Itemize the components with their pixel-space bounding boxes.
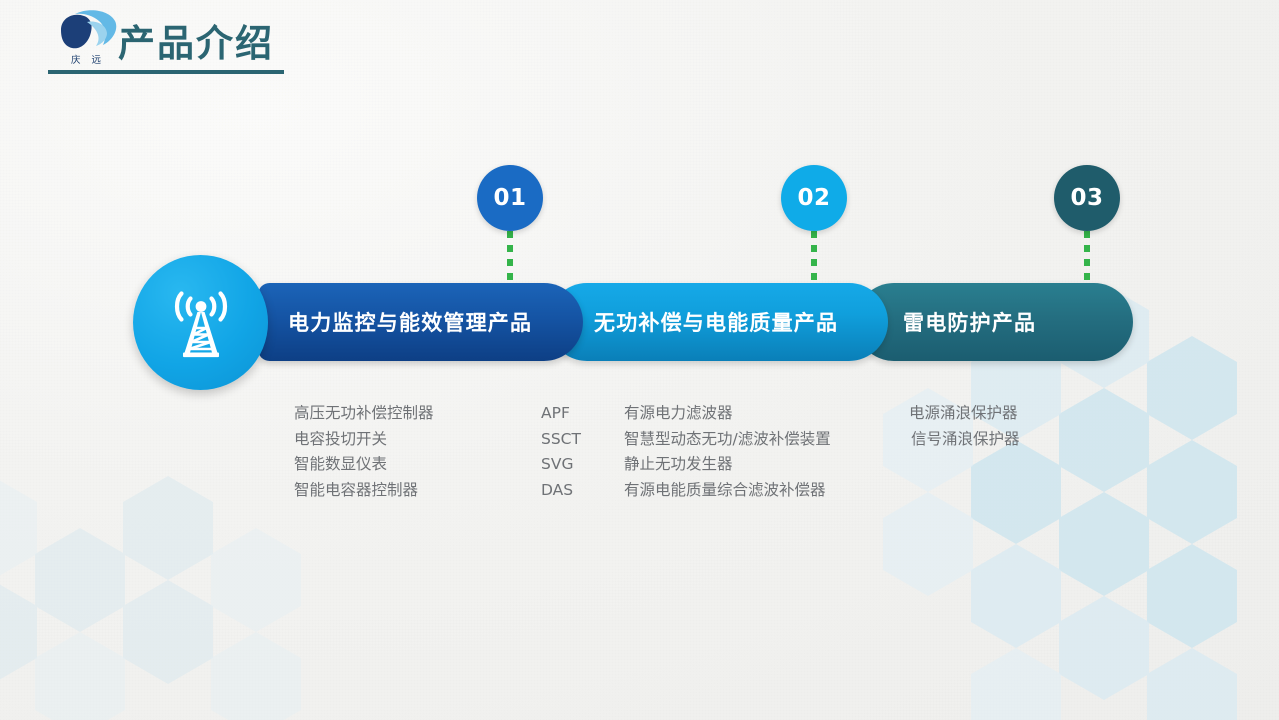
product-list-column-2-descriptions: 有源电力滤波器 智慧型动态无功/滤波补偿装置 静止无功发生器 有源电能质量综合滤… (624, 401, 831, 503)
list-item: 有源电力滤波器 (624, 401, 831, 427)
category-banner: 雷电防护产品 无功补偿与电能质量产品 电力监控与能效管理产品 (0, 0, 1279, 720)
list-item: SVG (541, 452, 581, 478)
product-list-column-1: 高压无功补偿控制器 电容投切开关 智能数显仪表 智能电容器控制器 (294, 401, 434, 503)
list-item: 电源涌浪保护器 (909, 401, 1020, 427)
product-list-column-3: 电源涌浪保护器 信号涌浪保护器 (909, 401, 1020, 452)
list-item: 智能电容器控制器 (294, 478, 434, 504)
list-item: 信号涌浪保护器 (909, 427, 1020, 453)
list-item: 有源电能质量综合滤波补偿器 (624, 478, 831, 504)
list-item: SSCT (541, 427, 581, 453)
product-list-column-2-abbreviations: APF SSCT SVG DAS (541, 401, 581, 503)
banner-icon-circle[interactable] (133, 255, 268, 390)
banner-segment-reactive-power[interactable]: 无功补偿与电能质量产品 (548, 283, 888, 361)
banner-segment-2-label: 无功补偿与电能质量产品 (594, 307, 838, 337)
list-item: 智慧型动态无功/滤波补偿装置 (624, 427, 831, 453)
banner-segment-lightning-protection[interactable]: 雷电防护产品 (855, 283, 1133, 361)
banner-segment-1-label: 电力监控与能效管理产品 (288, 307, 532, 337)
list-item: 高压无功补偿控制器 (294, 401, 434, 427)
list-item: DAS (541, 478, 581, 504)
list-item: 智能数显仪表 (294, 452, 434, 478)
list-item: 静止无功发生器 (624, 452, 831, 478)
list-item: APF (541, 401, 581, 427)
banner-segment-3-label: 雷电防护产品 (903, 307, 1036, 337)
banner-segment-power-monitoring[interactable]: 电力监控与能效管理产品 (258, 283, 583, 361)
list-item: 电容投切开关 (294, 427, 434, 453)
broadcast-tower-icon (162, 285, 240, 361)
